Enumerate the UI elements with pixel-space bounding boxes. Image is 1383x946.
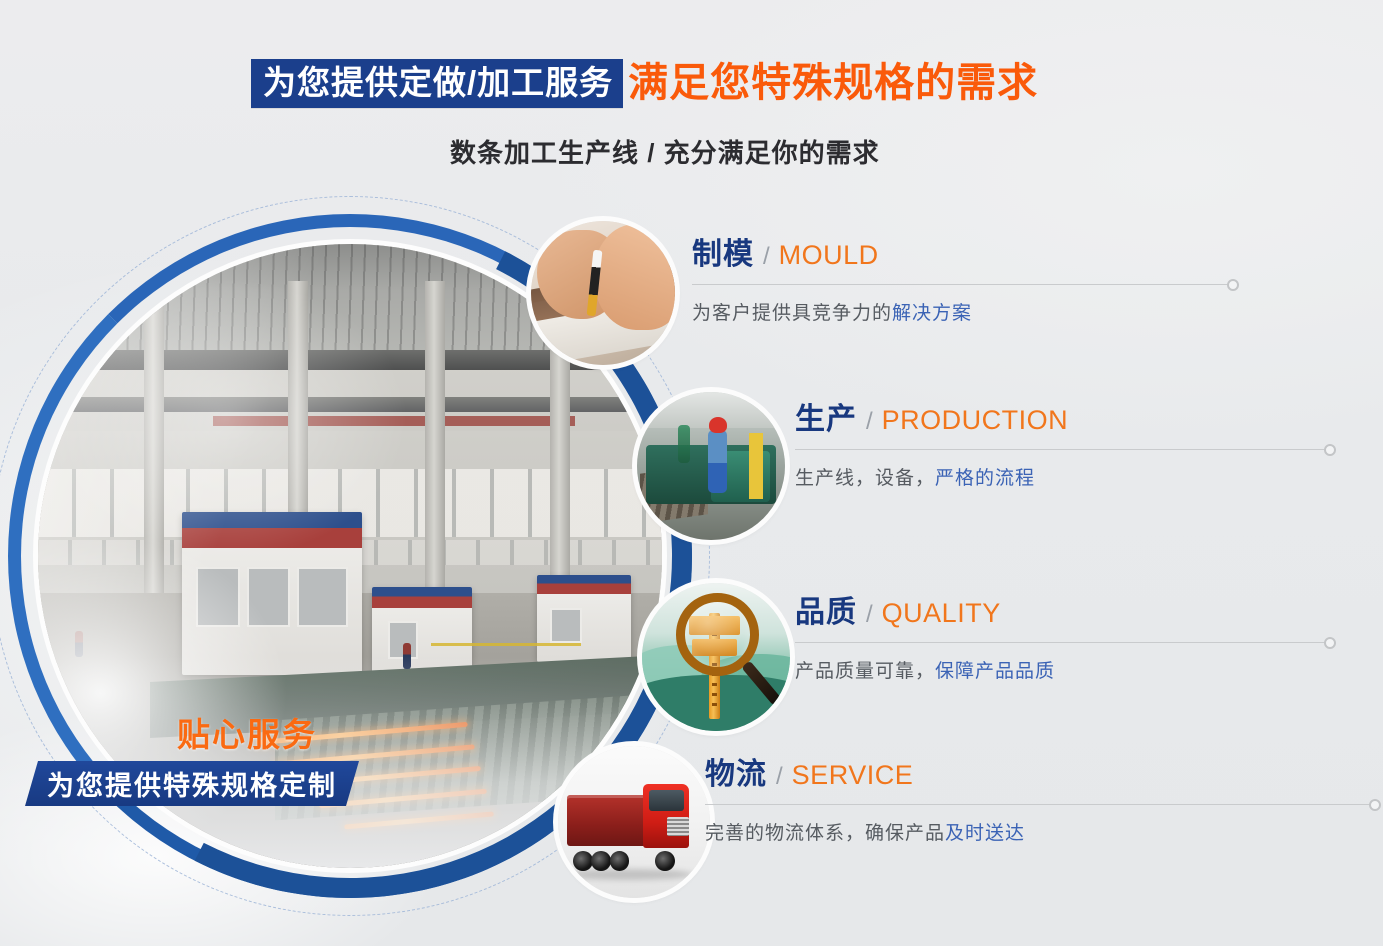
factory-worker-machine-icon bbox=[637, 392, 785, 540]
service-separator: / bbox=[776, 765, 783, 789]
quality-description: 产品质量可靠，保障产品品质 bbox=[795, 656, 1325, 683]
service-title-cn: 物流 bbox=[705, 760, 767, 790]
production-description: 生产线，设备，严格的流程 bbox=[795, 463, 1325, 490]
service-divider bbox=[705, 804, 1370, 805]
service-desc-plain: 完善的物流体系，确保产品 bbox=[705, 823, 945, 844]
quality-title-en: QUALITY bbox=[882, 600, 1001, 627]
production-title-cn: 生产 bbox=[795, 405, 857, 435]
service-banner-label: 为您提供特殊规格定制 bbox=[25, 764, 359, 803]
production-title-en: PRODUCTION bbox=[882, 407, 1069, 434]
quality-desc-plain: 产品质量可靠， bbox=[795, 661, 935, 682]
quality-title-cn: 品质 bbox=[795, 598, 857, 628]
production-divider bbox=[795, 449, 1325, 450]
mould-thumbnail bbox=[531, 221, 675, 365]
production-desc-highlight: 严格的流程 bbox=[935, 468, 1035, 489]
production-thumbnail bbox=[637, 392, 785, 540]
production-separator: / bbox=[866, 410, 873, 434]
production-desc-plain: 生产线，设备， bbox=[795, 468, 935, 489]
production-heading: 生产 / PRODUCTION bbox=[795, 405, 1325, 435]
headline-orange: 满足您特殊规格的需求 bbox=[628, 63, 1038, 103]
quality-thumbnail bbox=[642, 583, 790, 731]
headline-row: 为您提供定做/加工服务 满足您特殊规格的需求 bbox=[251, 59, 1038, 108]
service-title-en: SERVICE bbox=[792, 762, 914, 789]
mould-desc-highlight: 解决方案 bbox=[892, 303, 972, 324]
headline-badge: 为您提供定做/加工服务 bbox=[251, 59, 623, 108]
quality-heading: 品质 / QUALITY bbox=[795, 598, 1325, 628]
magnifier-inspection-icon bbox=[642, 583, 790, 731]
mould-title-en: MOULD bbox=[779, 242, 879, 269]
service-title: 贴心服务 bbox=[177, 708, 317, 756]
mould-divider bbox=[692, 284, 1228, 285]
mould-title-cn: 制模 bbox=[692, 240, 754, 270]
mould-description: 为客户提供具竞争力的解决方案 bbox=[692, 298, 1228, 325]
promo-banner: 为您提供定做/加工服务 满足您特殊规格的需求 数条加工生产线 / 充分满足你的需… bbox=[0, 0, 1383, 946]
hands-drafting-pen-icon bbox=[531, 221, 675, 365]
service-heading: 物流 / SERVICE bbox=[705, 760, 1370, 790]
service-banner: 为您提供特殊规格定制 bbox=[25, 761, 359, 806]
service-desc-highlight: 及时送达 bbox=[945, 823, 1025, 844]
mould-separator: / bbox=[763, 245, 770, 269]
red-delivery-truck-icon bbox=[558, 746, 710, 898]
service-thumbnail bbox=[558, 746, 710, 898]
mould-desc-plain: 为客户提供具竞争力的 bbox=[692, 303, 892, 324]
quality-desc-highlight: 保障产品品质 bbox=[935, 661, 1055, 682]
quality-divider bbox=[795, 642, 1325, 643]
quality-separator: / bbox=[866, 603, 873, 627]
subheadline: 数条加工生产线 / 充分满足你的需求 bbox=[450, 133, 880, 170]
mould-heading: 制模 / MOULD bbox=[692, 240, 1228, 270]
service-description: 完善的物流体系，确保产品及时送达 bbox=[705, 818, 1370, 845]
